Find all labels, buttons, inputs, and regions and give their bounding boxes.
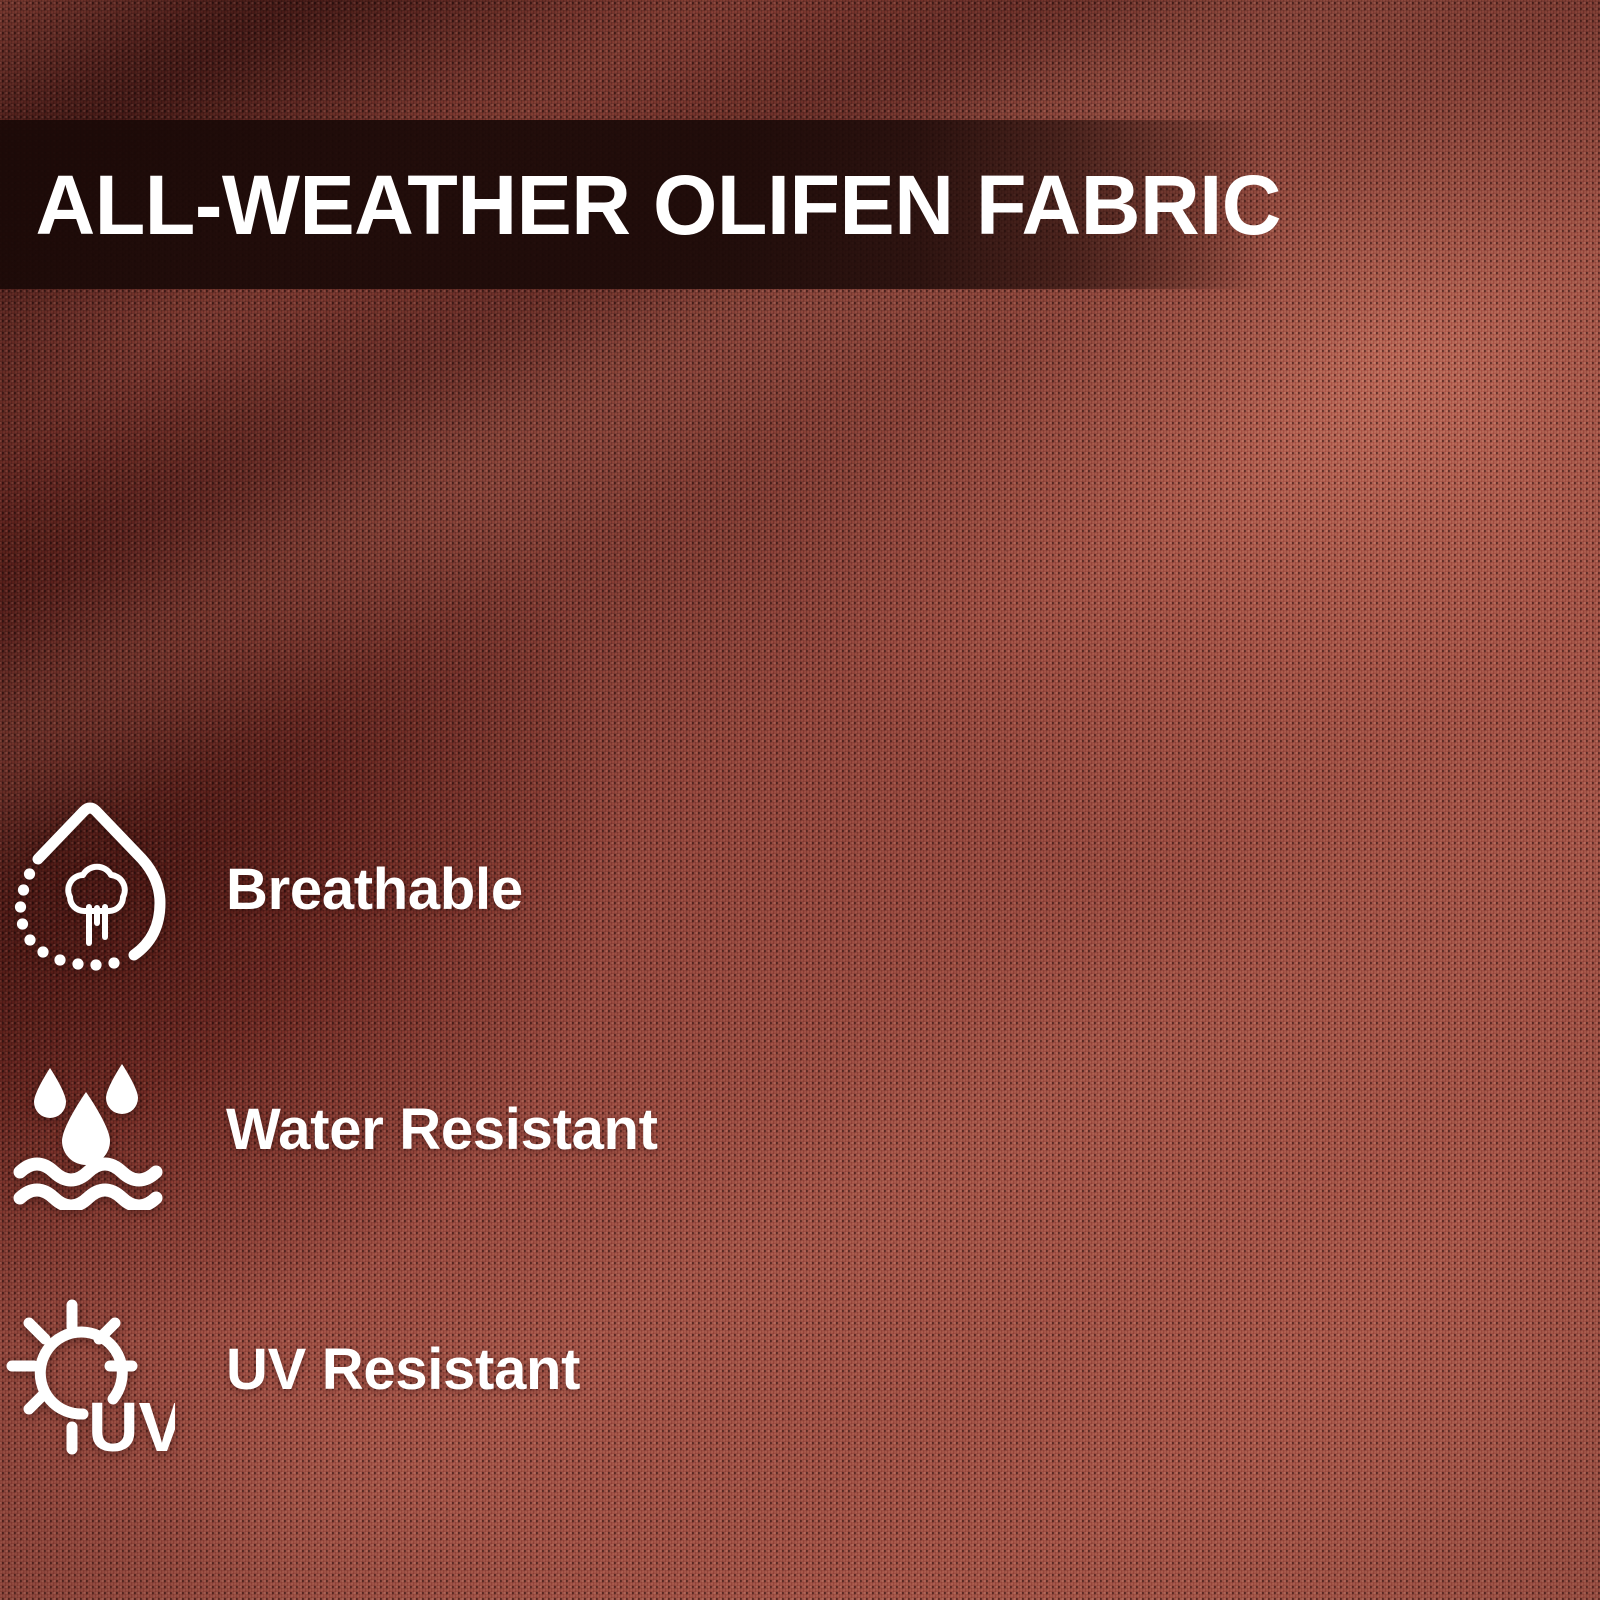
feature-item-uv-resistant: UV UV Resistant: [0, 1250, 1600, 1490]
uv-sun-icon: UV: [0, 1283, 180, 1458]
feature-label-breathable: Breathable: [226, 861, 523, 919]
water-droplets-waves-icon: [0, 1050, 180, 1210]
breathable-droplet-cotton-icon: [0, 795, 180, 985]
feature-item-water-resistant: Water Resistant: [0, 1010, 1600, 1250]
feature-label-uv-resistant: UV Resistant: [226, 1341, 580, 1399]
feature-item-breathable: Breathable: [0, 770, 1600, 1010]
feature-list: Breathable Water Resistant: [0, 770, 1600, 1490]
feature-label-water-resistant: Water Resistant: [226, 1101, 658, 1159]
uv-icon-text: UV: [88, 1388, 175, 1458]
page-title: ALL-WEATHER OLIFEN FABRIC: [0, 163, 1281, 247]
product-feature-graphic: ALL-WEATHER OLIFEN FABRIC: [0, 0, 1600, 1600]
title-banner: ALL-WEATHER OLIFEN FABRIC: [0, 120, 1270, 289]
